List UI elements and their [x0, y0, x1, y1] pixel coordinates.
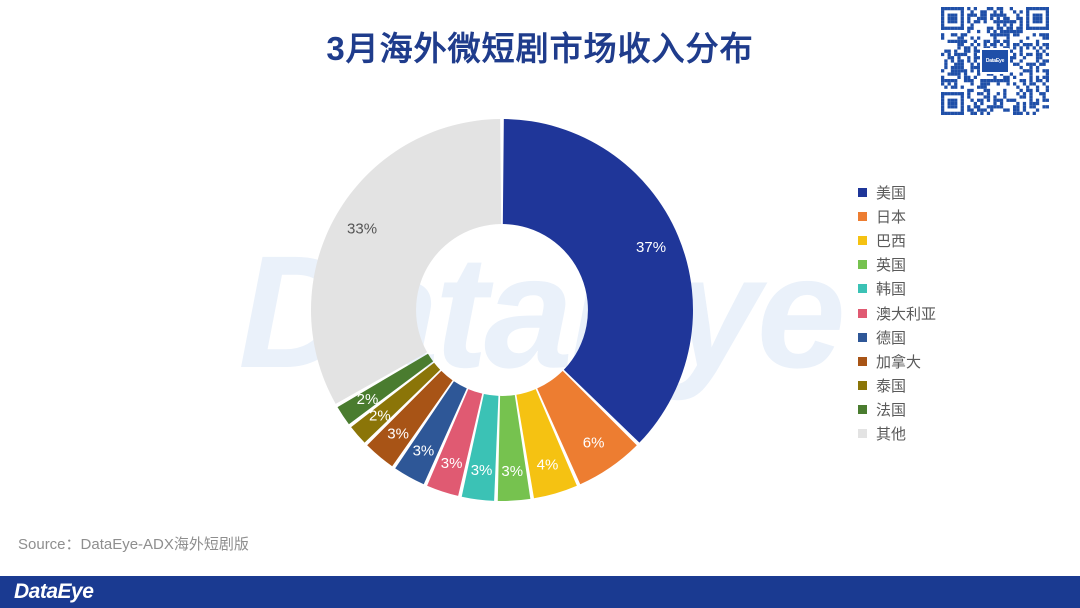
qr-center-logo: DataEye: [980, 48, 1010, 74]
legend-item-label: 英国: [876, 254, 906, 275]
page-title: 3月海外微短剧市场收入分布: [0, 22, 1080, 70]
legend-item-label: 其他: [876, 423, 906, 444]
legend-swatch-icon: [858, 357, 867, 366]
legend-item[interactable]: 泰国: [858, 374, 936, 398]
footer-logo: DataEye: [14, 580, 93, 604]
legend-item-label: 澳大利亚: [876, 303, 936, 324]
legend-swatch-icon: [858, 212, 867, 221]
slice-percentage-label: 3%: [441, 455, 463, 472]
legend-item-label: 加拿大: [876, 351, 921, 372]
legend-item[interactable]: 加拿大: [858, 349, 936, 373]
legend-item-label: 韩国: [876, 278, 906, 299]
legend-item[interactable]: 德国: [858, 325, 936, 349]
slice-percentage-label: 33%: [347, 221, 377, 238]
legend-item-label: 日本: [876, 206, 906, 227]
footer-bar: DataEye: [0, 576, 1080, 608]
donut-slice[interactable]: [311, 119, 501, 404]
slice-percentage-label: 3%: [501, 463, 523, 480]
legend-swatch-icon: [858, 309, 867, 318]
legend-item[interactable]: 英国: [858, 253, 936, 277]
legend-item[interactable]: 巴西: [858, 228, 936, 252]
legend-item-label: 法国: [876, 399, 906, 420]
chart-legend: 美国日本巴西英国韩国澳大利亚德国加拿大泰国法国其他: [858, 180, 936, 446]
legend-swatch-icon: [858, 381, 867, 390]
slice-percentage-label: 6%: [583, 435, 605, 452]
slice-percentage-label: 2%: [369, 407, 391, 424]
slice-percentage-label: 4%: [537, 457, 559, 474]
slice-percentage-label: 3%: [471, 462, 493, 479]
legend-swatch-icon: [858, 284, 867, 293]
slice-percentage-label: 37%: [636, 239, 666, 256]
legend-swatch-icon: [858, 333, 867, 342]
source-note: Source：DataEye-ADX海外短剧版: [18, 533, 249, 554]
slice-percentage-label: 3%: [387, 425, 409, 442]
legend-item[interactable]: 法国: [858, 398, 936, 422]
qr-code[interactable]: DataEye: [932, 7, 1058, 115]
legend-swatch-icon: [858, 405, 867, 414]
legend-item-label: 德国: [876, 327, 906, 348]
legend-item-label: 泰国: [876, 375, 906, 396]
legend-swatch-icon: [858, 429, 867, 438]
slice-percentage-label: 3%: [413, 443, 435, 460]
legend-item[interactable]: 美国: [858, 180, 936, 204]
legend-swatch-icon: [858, 188, 867, 197]
legend-item[interactable]: 日本: [858, 204, 936, 228]
legend-item-label: 巴西: [876, 230, 906, 251]
legend-item-label: 美国: [876, 182, 906, 203]
legend-item[interactable]: 澳大利亚: [858, 301, 936, 325]
legend-item[interactable]: 韩国: [858, 277, 936, 301]
legend-item[interactable]: 其他: [858, 422, 936, 446]
legend-swatch-icon: [858, 236, 867, 245]
slice-percentage-label: 2%: [357, 391, 379, 408]
legend-swatch-icon: [858, 260, 867, 269]
